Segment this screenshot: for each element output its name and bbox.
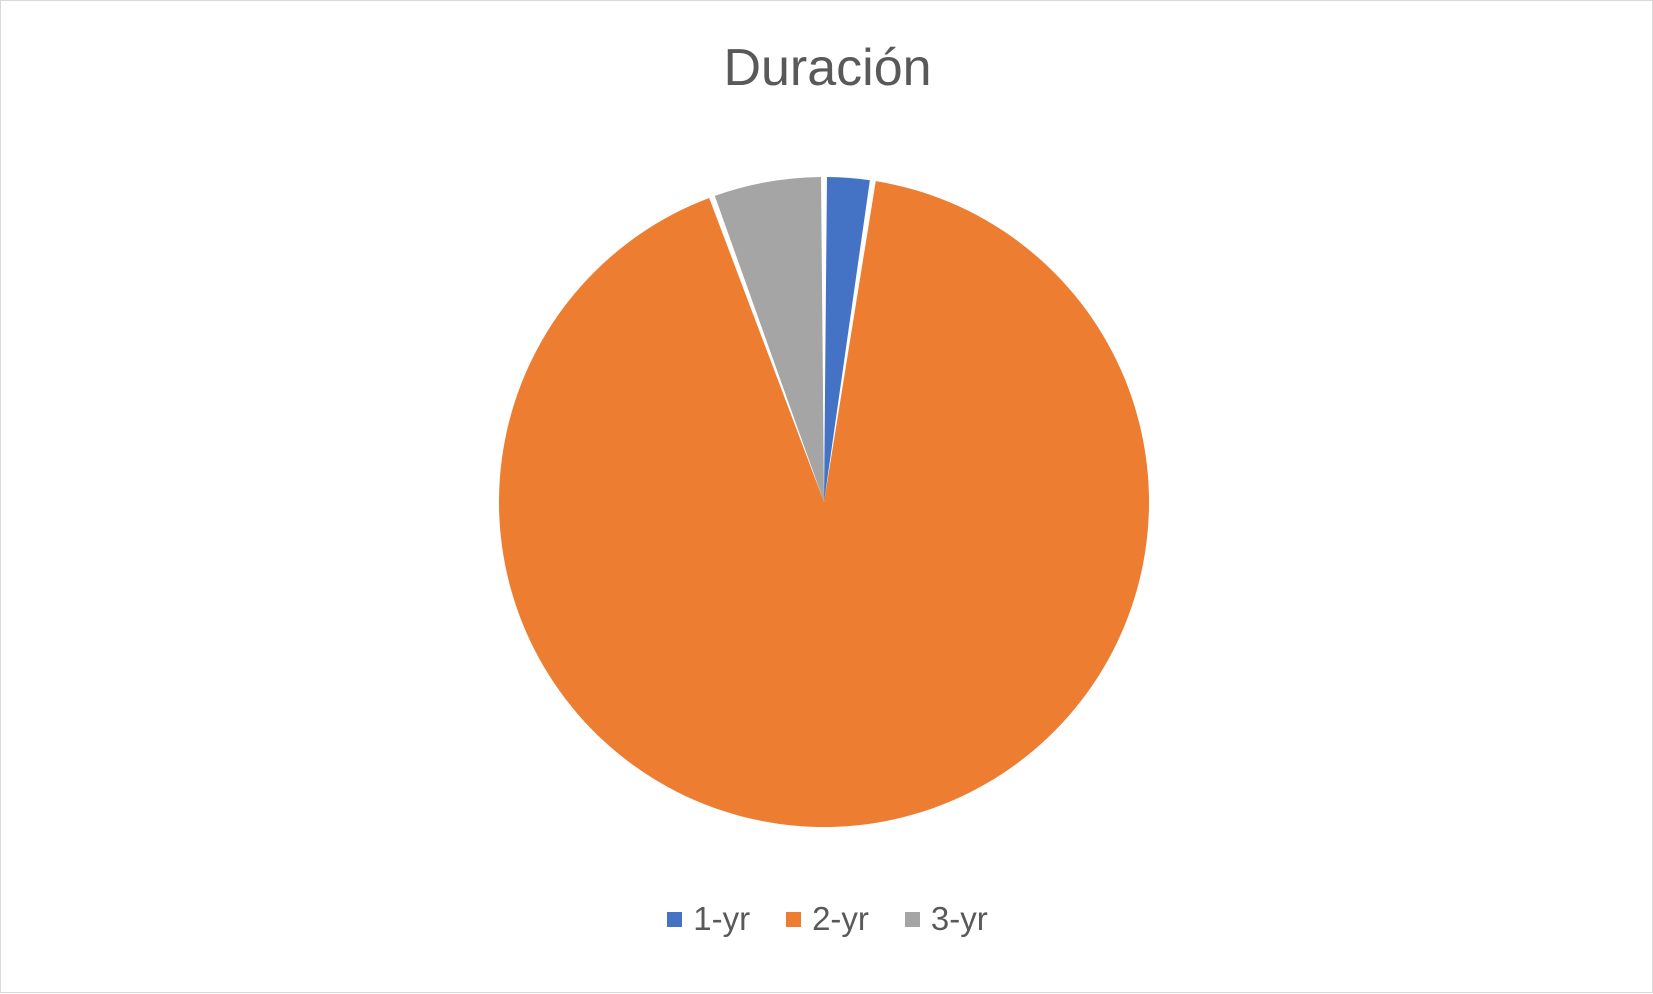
legend-swatch-icon-3-yr (905, 912, 920, 927)
legend-item-2-yr[interactable]: 2-yr (786, 899, 869, 939)
legend-label-3-yr: 3-yr (931, 899, 988, 939)
legend-item-3-yr[interactable]: 3-yr (905, 899, 988, 939)
pie-slice-2-yr[interactable] (499, 181, 1149, 827)
legend-swatch-icon-1-yr (667, 912, 682, 927)
legend-label-2-yr: 2-yr (812, 899, 869, 939)
legend-swatch-icon-2-yr (786, 912, 801, 927)
pie-plot-area[interactable] (1, 1, 1653, 994)
pie-chart-svg (1, 1, 1653, 994)
chart-container[interactable]: Duración 1-yr 2-yr 3-yr (0, 0, 1653, 993)
legend-item-1-yr[interactable]: 1-yr (667, 899, 750, 939)
pie-slice-group (499, 177, 1149, 827)
legend-label-1-yr: 1-yr (693, 899, 750, 939)
chart-legend[interactable]: 1-yr 2-yr 3-yr (1, 899, 1653, 939)
